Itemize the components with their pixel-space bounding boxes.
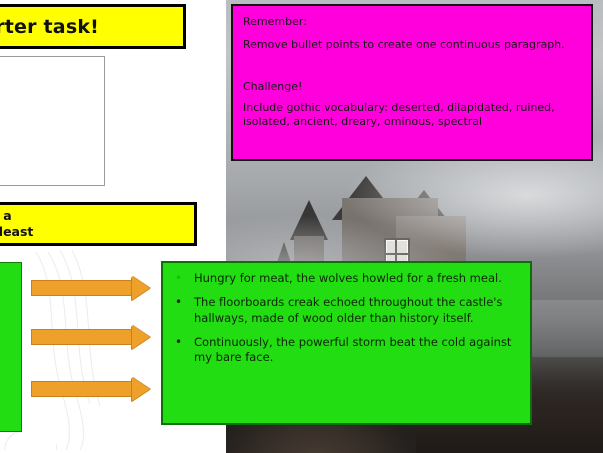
instruction-line-2: ph using at least <box>0 224 186 240</box>
remember-paragraph: Remove bullet points to create one conti… <box>243 38 581 53</box>
arrow-head <box>132 325 150 349</box>
arrow-shaft <box>31 280 132 296</box>
list-item-text: Continuously, the powerful storm beat th… <box>194 335 511 364</box>
list-item-text: Hungry for meat, the wolves howled for a… <box>194 271 502 285</box>
list-item: • Hungry for meat, the wolves howled for… <box>167 271 522 286</box>
starter-text-panel: aunted castle. c r <box>0 56 105 186</box>
arrow-head <box>132 377 150 401</box>
bullet-icon: • <box>175 271 182 285</box>
remember-box: Remember: Remove bullet points to create… <box>231 4 593 161</box>
answers-box: • Hungry for meat, the wolves howled for… <box>161 261 532 425</box>
transformation-arrow-icon <box>31 377 150 401</box>
instruction-line-1: vations into a <box>0 208 186 224</box>
answers-list: • Hungry for meat, the wolves howled for… <box>167 271 522 365</box>
bullet-icon: • <box>175 295 182 309</box>
challenge-heading: Challenge! <box>243 80 581 95</box>
arrow-shaft <box>31 381 132 397</box>
presentation-slide: r starter task! aunted castle. c r vatio… <box>0 0 603 453</box>
instruction-line-3: lauses. <box>0 240 186 256</box>
starter-line-3: r <box>0 109 96 129</box>
source-box <box>0 262 22 432</box>
transformation-arrow-icon <box>31 276 150 300</box>
arrow-head <box>132 276 150 300</box>
list-item: • The floorboards creak echoed throughou… <box>167 295 522 326</box>
starter-line-2: c <box>0 89 96 109</box>
transformation-arrow-icon <box>31 325 150 349</box>
page-title: r starter task! <box>0 4 186 49</box>
instruction-banner: vations into a ph using at least lauses. <box>0 202 197 246</box>
starter-line-1: aunted castle. <box>0 66 96 89</box>
challenge-text: Include gothic vocabulary: deserted, dil… <box>243 101 581 130</box>
list-item-text: The floorboards creak echoed throughout … <box>194 295 502 324</box>
bullet-icon: • <box>175 335 182 349</box>
list-item: • Continuously, the powerful storm beat … <box>167 335 522 366</box>
remember-heading: Remember: <box>243 15 581 30</box>
arrow-shaft <box>31 329 132 345</box>
